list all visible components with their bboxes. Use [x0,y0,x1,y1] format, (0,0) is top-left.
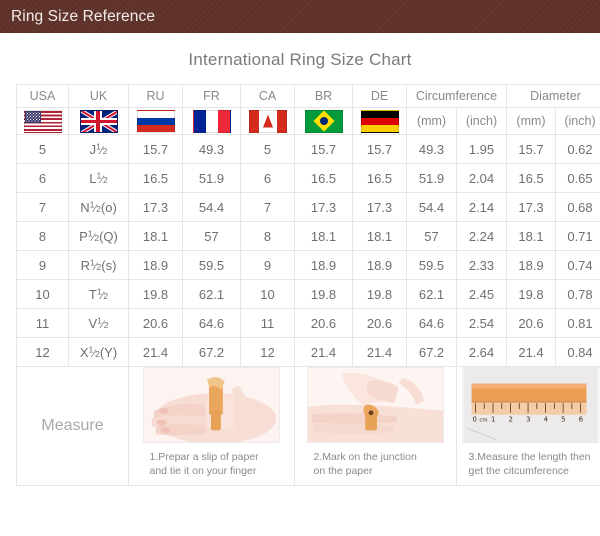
cell-fr: 54.4 [183,193,241,222]
header-bar: Ring Size Reference [0,0,600,33]
cell-ca: 5 [241,135,295,164]
unit-circumference-inch: (inch) [457,108,507,135]
measure-step-3: 0 cm 1 2 3 4 5 6 [457,367,600,486]
cell-fr: 57 [183,222,241,251]
unit-circumference-mm: (mm) [407,108,457,135]
cell-br: 15.7 [295,135,353,164]
cell-usa: 9 [17,251,69,280]
cell-fr: 49.3 [183,135,241,164]
table-row: 9 R1⁄2(s) 18.9 59.5 9 18.9 18.9 59.5 2.3… [17,251,600,280]
cell-ru: 15.7 [129,135,183,164]
svg-text:2: 2 [509,416,513,424]
cell-ru: 20.6 [129,309,183,338]
cell-circ-mm: 67.2 [407,338,457,367]
ruler-measuring-strip-photo: 0 cm 1 2 3 4 5 6 [462,367,599,443]
cell-dia-inch: 0.74 [556,251,600,280]
cell-fr: 51.9 [183,164,241,193]
cell-br: 16.5 [295,164,353,193]
cell-dia-mm: 19.8 [507,280,556,309]
cell-br: 21.4 [295,338,353,367]
cell-circ-mm: 57 [407,222,457,251]
cell-ru: 18.1 [129,222,183,251]
cell-dia-mm: 15.7 [507,135,556,164]
step-3-caption: 3.Measure the length then get the citcum… [469,450,593,478]
cell-circ-inch: 2.45 [457,280,507,309]
ring-size-table: USA UK RU FR CA BR DE Circumference Diam… [16,84,600,486]
cell-dia-mm: 16.5 [507,164,556,193]
cell-usa: 10 [17,280,69,309]
cell-fr: 67.2 [183,338,241,367]
svg-text:4: 4 [544,416,548,424]
step-2-caption: 2.Mark on the junction on the paper [314,450,438,478]
cell-br: 19.8 [295,280,353,309]
measure-label-cell: Measure [17,367,129,486]
cell-dia-mm: 20.6 [507,309,556,338]
measure-step-2: 2.Mark on the junction on the paper [295,367,457,486]
cell-ca: 6 [241,164,295,193]
flag-france-icon [193,110,231,133]
cell-ca: 8 [241,222,295,251]
cell-dia-inch: 0.65 [556,164,600,193]
cell-uk: L1⁄2 [69,164,129,193]
hand-with-paper-strip-photo [143,367,280,443]
cell-dia-inch: 0.81 [556,309,600,338]
table-row: 8 P1⁄2(Q) 18.1 57 8 18.1 18.1 57 2.24 18… [17,222,600,251]
cell-circ-inch: 2.24 [457,222,507,251]
cell-de: 20.6 [353,309,407,338]
table-row: 7 N1⁄2(o) 17.3 54.4 7 17.3 17.3 54.4 2.1… [17,193,600,222]
flag-germany-icon [361,110,399,133]
cell-ru: 19.8 [129,280,183,309]
step-1-caption: 1.Prepar a slip of paper and tie it on y… [150,450,274,478]
cell-circ-mm: 59.5 [407,251,457,280]
cell-de: 21.4 [353,338,407,367]
cell-de: 15.7 [353,135,407,164]
column-header-fr: FR [183,85,241,108]
flag-cell-ru [129,108,183,135]
cell-ru: 17.3 [129,193,183,222]
cell-dia-inch: 0.68 [556,193,600,222]
cell-circ-mm: 54.4 [407,193,457,222]
cell-circ-inch: 2.04 [457,164,507,193]
svg-text:5: 5 [561,416,565,424]
cell-br: 18.1 [295,222,353,251]
cell-fr: 64.6 [183,309,241,338]
cell-dia-mm: 18.1 [507,222,556,251]
cell-circ-inch: 2.64 [457,338,507,367]
cell-usa: 8 [17,222,69,251]
cell-dia-mm: 17.3 [507,193,556,222]
cell-uk: V1⁄2 [69,309,129,338]
measure-row: Measure [17,367,600,486]
marking-paper-junction-photo [307,367,444,443]
cell-circ-mm: 51.9 [407,164,457,193]
cell-ca: 12 [241,338,295,367]
cell-ca: 11 [241,309,295,338]
cell-fr: 59.5 [183,251,241,280]
cell-fr: 62.1 [183,280,241,309]
cell-circ-mm: 49.3 [407,135,457,164]
cell-dia-inch: 0.71 [556,222,600,251]
cell-dia-inch: 0.84 [556,338,600,367]
cell-circ-mm: 62.1 [407,280,457,309]
flag-canada-icon [249,110,287,133]
cell-usa: 11 [17,309,69,338]
cell-ru: 18.9 [129,251,183,280]
unit-diameter-inch: (inch) [556,108,600,135]
table-row: 10 T1⁄2 19.8 62.1 10 19.8 19.8 62.1 2.45… [17,280,600,309]
cell-usa: 12 [17,338,69,367]
cell-uk: X1⁄2(Y) [69,338,129,367]
cell-circ-inch: 2.54 [457,309,507,338]
cell-br: 20.6 [295,309,353,338]
cell-ru: 21.4 [129,338,183,367]
cell-uk: T1⁄2 [69,280,129,309]
flag-brazil-icon [305,110,343,133]
column-header-ru: RU [129,85,183,108]
column-header-br: BR [295,85,353,108]
table-row: 6 L1⁄2 16.5 51.9 6 16.5 16.5 51.9 2.04 1… [17,164,600,193]
flag-cell-br [295,108,353,135]
cell-dia-mm: 18.9 [507,251,556,280]
table-row: 12 X1⁄2(Y) 21.4 67.2 12 21.4 21.4 67.2 2… [17,338,600,367]
cell-de: 16.5 [353,164,407,193]
flag-cell-fr [183,108,241,135]
cell-uk: R1⁄2(s) [69,251,129,280]
flag-russia-icon [137,110,175,133]
svg-text:0: 0 [473,416,477,424]
table-row: 11 V1⁄2 20.6 64.6 11 20.6 20.6 64.6 2.54… [17,309,600,338]
cell-de: 18.1 [353,222,407,251]
measure-step-1: 1.Prepar a slip of paper and tie it on y… [129,367,295,486]
flag-usa-icon [24,110,62,133]
cell-de: 19.8 [353,280,407,309]
flag-cell-uk [69,108,129,135]
table-header-flags: (mm) (inch) (mm) (inch) [17,108,600,135]
cell-uk: P1⁄2(Q) [69,222,129,251]
cell-dia-mm: 21.4 [507,338,556,367]
column-header-ca: CA [241,85,295,108]
cell-ca: 7 [241,193,295,222]
cell-circ-mm: 64.6 [407,309,457,338]
cell-dia-inch: 0.78 [556,280,600,309]
cell-br: 17.3 [295,193,353,222]
measure-label: Measure [41,417,103,434]
table-row: 5 J1⁄2 15.7 49.3 5 15.7 15.7 49.3 1.95 1… [17,135,600,164]
cell-usa: 5 [17,135,69,164]
flag-cell-usa [17,108,69,135]
column-header-de: DE [353,85,407,108]
chart-wrapper: USA UK RU FR CA BR DE Circumference Diam… [0,84,600,486]
cell-de: 18.9 [353,251,407,280]
column-header-circumference: Circumference [407,85,507,108]
flag-cell-ca [241,108,295,135]
page-title: International Ring Size Chart [0,50,600,70]
svg-text:3: 3 [526,416,530,424]
flag-cell-de [353,108,407,135]
cell-de: 17.3 [353,193,407,222]
cell-ca: 9 [241,251,295,280]
svg-text:1: 1 [491,416,495,424]
cell-uk: N1⁄2(o) [69,193,129,222]
cell-dia-inch: 0.62 [556,135,600,164]
cell-ca: 10 [241,280,295,309]
cell-usa: 6 [17,164,69,193]
cell-circ-inch: 1.95 [457,135,507,164]
svg-text:cm: cm [479,418,487,424]
cell-ru: 16.5 [129,164,183,193]
table-header-labels: USA UK RU FR CA BR DE Circumference Diam… [17,85,600,108]
cell-circ-inch: 2.33 [457,251,507,280]
cell-circ-inch: 2.14 [457,193,507,222]
svg-text:6: 6 [579,416,583,424]
column-header-usa: USA [17,85,69,108]
column-header-diameter: Diameter [507,85,600,108]
cell-uk: J1⁄2 [69,135,129,164]
header-title: Ring Size Reference [11,8,155,26]
column-header-uk: UK [69,85,129,108]
cell-br: 18.9 [295,251,353,280]
cell-usa: 7 [17,193,69,222]
unit-diameter-mm: (mm) [507,108,556,135]
flag-uk-icon [80,110,118,133]
